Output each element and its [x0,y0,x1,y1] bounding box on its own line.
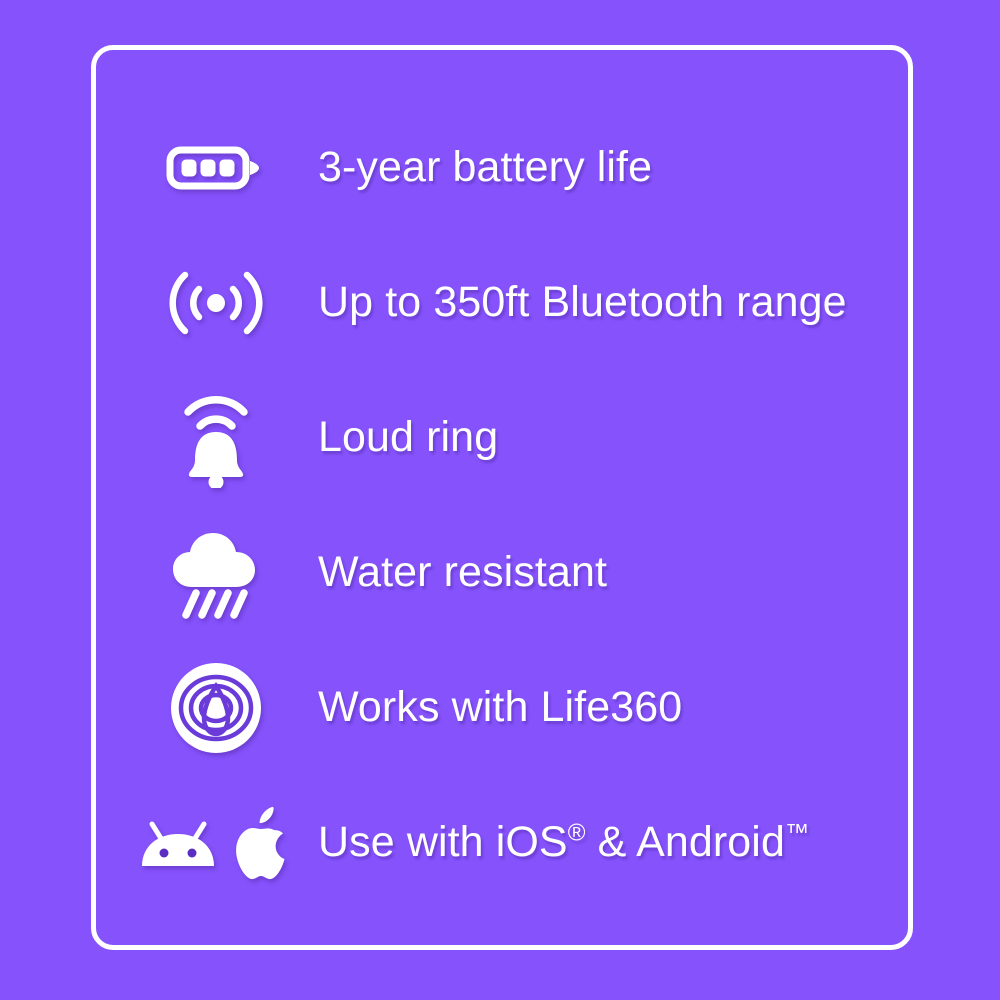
feature-label: 3-year battery life [316,145,652,190]
feature-label: Up to 350ft Bluetooth range [316,280,847,325]
feature-poster: 3-year battery life Up to 350ft Bluetoot… [0,0,1000,1000]
feature-row-bluetooth: Up to 350ft Bluetooth range [116,248,888,358]
feature-row-platforms: Use with iOS® & Android™ [116,788,888,898]
platform-label-prefix: Use with iOS [318,818,568,866]
life360-logo-icon [116,658,316,758]
platform-label-mid: & Android [586,818,785,866]
ringing-bell-icon [116,388,316,488]
feature-row-water-resistant: Water resistant [116,518,888,628]
feature-row-battery: 3-year battery life [116,113,888,223]
platform-icon-group [116,793,316,893]
battery-icon [116,118,316,218]
feature-row-loud-ring: Loud ring [116,383,888,493]
feature-label: Loud ring [316,415,498,460]
android-icon [138,812,218,874]
feature-label: Water resistant [316,550,607,595]
feature-label: Use with iOS® & Android™ [316,820,809,865]
bluetooth-signal-icon [116,253,316,353]
feature-list: 3-year battery life Up to 350ft Bluetoot… [96,50,908,945]
apple-icon [228,803,294,883]
registered-mark: ® [568,820,586,847]
feature-label: Works with Life360 [316,685,682,730]
feature-row-life360: Works with Life360 [116,653,888,763]
trademark-mark: ™ [785,820,809,847]
rain-cloud-icon [116,523,316,623]
feature-card: 3-year battery life Up to 350ft Bluetoot… [91,45,913,950]
